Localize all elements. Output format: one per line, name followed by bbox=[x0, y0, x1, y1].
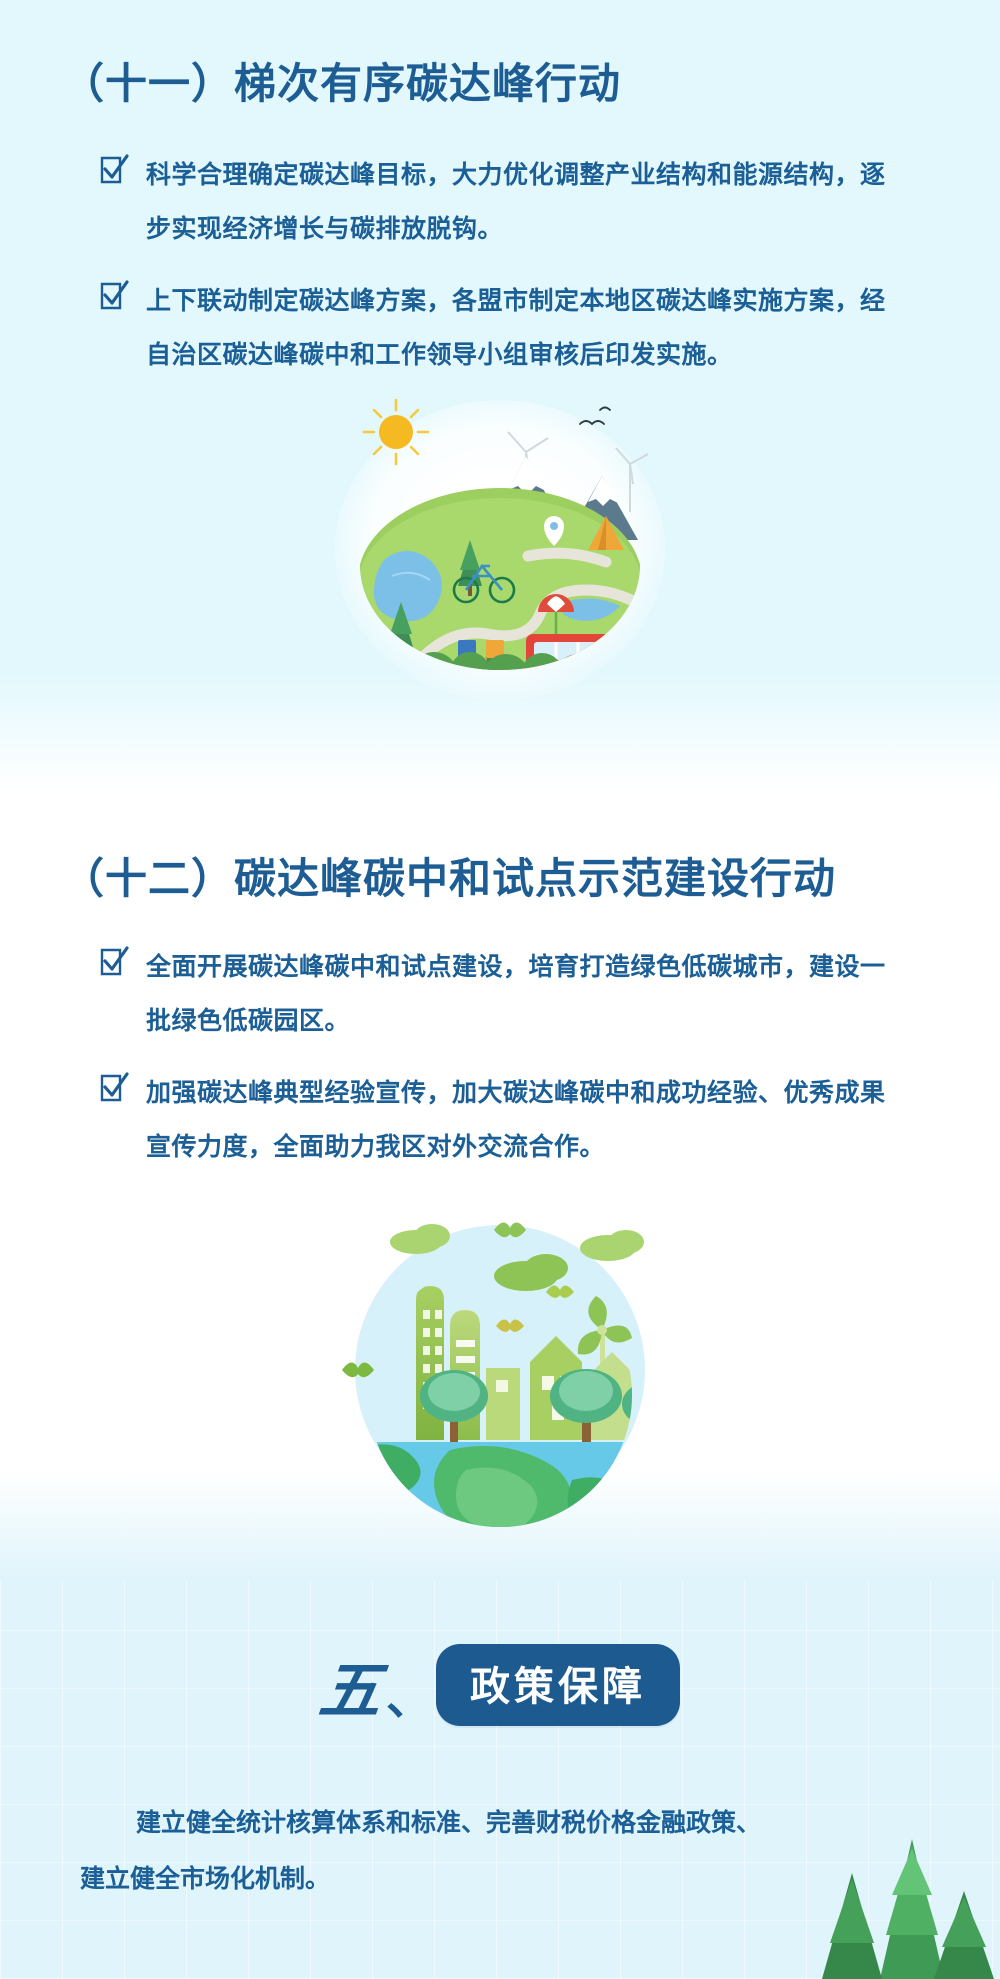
check-box-icon bbox=[100, 280, 130, 310]
sun-icon bbox=[364, 400, 428, 464]
list-item: 科学合理确定碳达峰目标，大力优化调整产业结构和能源结构，逐步实现经济增长与碳排放… bbox=[100, 148, 910, 256]
list-item-text: 全面开展碳达峰碳中和试点建设，培育打造绿色低碳城市，建设一批绿色低碳园区。 bbox=[146, 940, 910, 1048]
policy-heading: 五 、 政策保障 bbox=[0, 1640, 1000, 1730]
section-twelve-bullets: 全面开展碳达峰碳中和试点建设，培育打造绿色低碳城市，建设一批绿色低碳园区。 加强… bbox=[100, 940, 910, 1192]
section-number-comma: 、 bbox=[386, 1662, 432, 1728]
section-policy: 五 、 政策保障 建立健全统计核算体系和标准、完善财税价格金融政策、 建立健全市… bbox=[0, 1580, 1000, 1979]
status-badge: 政策保障 bbox=[436, 1644, 680, 1726]
earth-globe bbox=[350, 1442, 650, 1530]
pine-tree-icon bbox=[934, 1891, 994, 1979]
list-item: 加强碳达峰典型经验宣传，加大碳达峰碳中和成功经验、优秀成果宣传力度，全面助力我区… bbox=[100, 1066, 910, 1174]
cloud-shape bbox=[580, 1230, 644, 1261]
section-eleven-bullets: 科学合理确定碳达峰目标，大力优化调整产业结构和能源结构，逐步实现经济增长与碳排放… bbox=[100, 148, 910, 400]
infographic-page: （十一）梯次有序碳达峰行动 科学合理确定碳达峰目标，大力优化调整产业结构和能源结… bbox=[0, 0, 1000, 1979]
pine-tree-icon bbox=[822, 1873, 882, 1979]
list-item-text: 加强碳达峰典型经验宣传，加大碳达峰碳中和成功经验、优秀成果宣传力度，全面助力我区… bbox=[146, 1066, 910, 1174]
check-box-icon bbox=[100, 1072, 130, 1102]
list-item: 全面开展碳达峰碳中和试点建设，培育打造绿色低碳城市，建设一批绿色低碳园区。 bbox=[100, 940, 910, 1048]
list-item-text: 上下联动制定碳达峰方案，各盟市制定本地区碳达峰实施方案，经自治区碳达峰碳中和工作… bbox=[146, 274, 910, 382]
list-item: 上下联动制定碳达峰方案，各盟市制定本地区碳达峰实施方案，经自治区碳达峰碳中和工作… bbox=[100, 274, 910, 382]
policy-line-2: 建立健全市场化机制。 bbox=[80, 1865, 330, 1893]
check-box-icon bbox=[100, 946, 130, 976]
section-number: 五 bbox=[315, 1640, 386, 1730]
birds-icon bbox=[580, 408, 610, 425]
section-eleven-title: （十一）梯次有序碳达峰行动 bbox=[62, 50, 621, 111]
green-earth-eco-illustration bbox=[290, 1180, 710, 1530]
check-box-icon bbox=[100, 154, 130, 184]
camping-nature-illustration bbox=[330, 390, 670, 700]
list-item-text: 科学合理确定碳达峰目标，大力优化调整产业结构和能源结构，逐步实现经济增长与碳排放… bbox=[146, 148, 910, 256]
pine-trees-decoration bbox=[760, 1749, 1000, 1979]
pine-tree-icon bbox=[880, 1839, 944, 1979]
section-twelve-title: （十二）碳达峰碳中和试点示范建设行动 bbox=[62, 845, 836, 906]
tree-icon bbox=[622, 1382, 678, 1448]
